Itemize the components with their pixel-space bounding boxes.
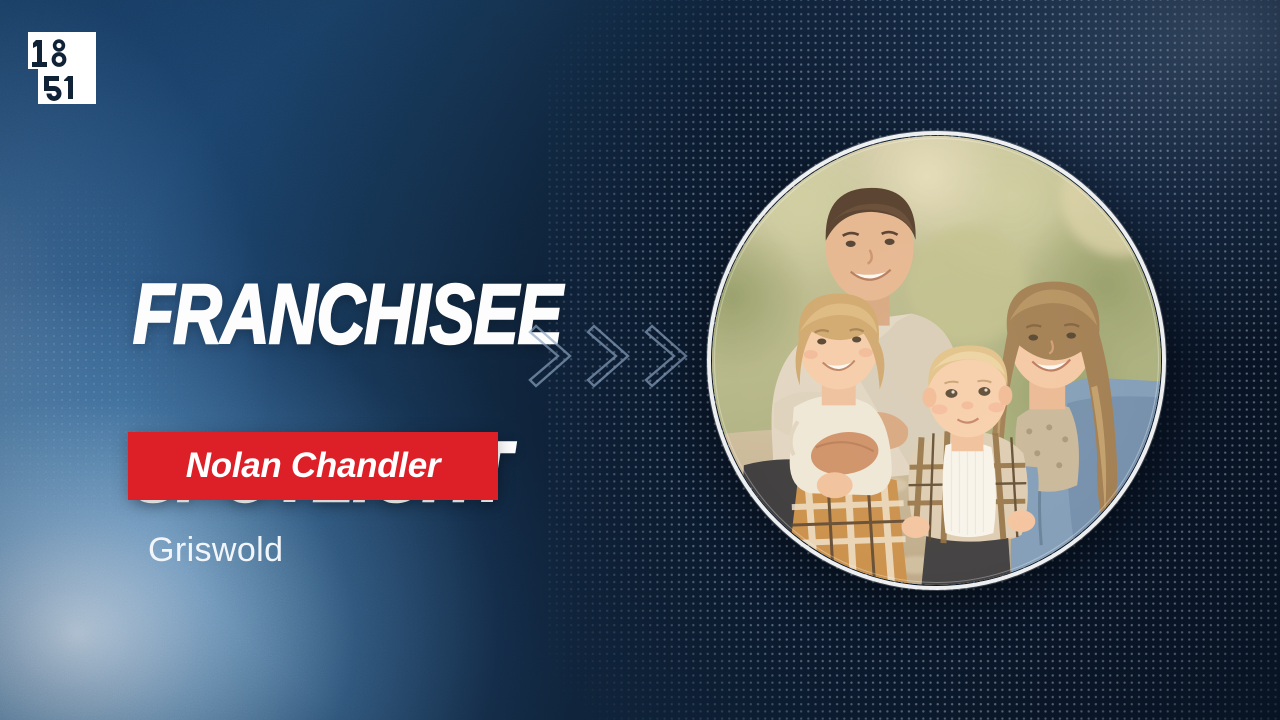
franchisee-family-photo — [707, 131, 1166, 590]
brand-subtitle: Griswold — [148, 531, 283, 570]
chevron-right-icon-group — [528, 316, 718, 396]
chevron-right-icon — [588, 326, 628, 386]
franchisee-name: Nolan Chandler — [186, 446, 440, 486]
chevron-right-icon — [646, 326, 686, 386]
brand-logo[interactable] — [24, 24, 96, 104]
portrait-image — [712, 136, 1161, 585]
franchisee-name-banner: Nolan Chandler — [128, 432, 498, 500]
franchisee-spotlight-graphic: FRANCHISEE SPOTLIGHT Nolan Chandler Gris… — [0, 0, 1280, 720]
chevron-right-icon — [530, 326, 570, 386]
headline-line-1: FRANCHISEE — [133, 275, 562, 354]
